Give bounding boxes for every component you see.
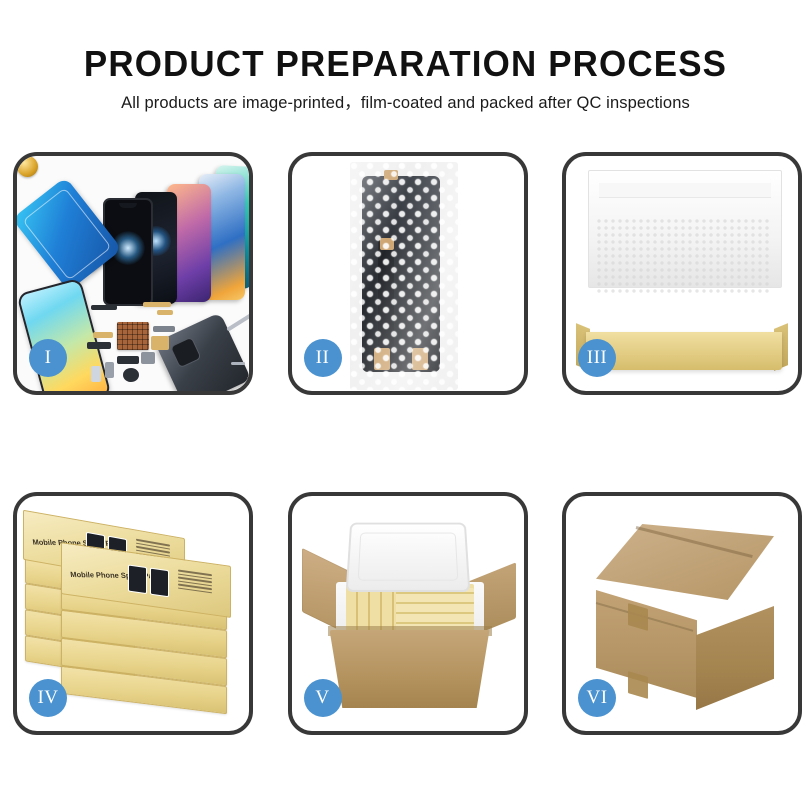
small-part-a — [91, 305, 117, 310]
process-step-3: III Item placed in gold box with foam an… — [562, 152, 802, 395]
box-screens-2 — [128, 564, 169, 597]
carton-top-face — [596, 524, 774, 600]
box-screen-img — [128, 564, 147, 594]
small-part-b — [87, 342, 111, 349]
carton-body — [330, 630, 490, 708]
camera-module — [123, 368, 139, 382]
box-spec-lines-2 — [178, 569, 212, 593]
page-title: PRODUCT PREPARATION PROCESS — [12, 44, 799, 84]
step-6-caption: Sealed outer shipping carton — [566, 496, 567, 497]
plastic-sheen — [350, 162, 458, 390]
step-2-caption: Single screen sealed in bubble wrap — [292, 156, 293, 157]
step-badge-2: II — [304, 339, 342, 377]
tweezers-tool — [226, 312, 249, 331]
small-part-g — [141, 352, 155, 364]
small-part-f — [91, 366, 101, 382]
step-badge-3: III — [578, 339, 616, 377]
page-subtitle: All products are image-printed，film-coat… — [0, 93, 811, 113]
small-part-d — [117, 356, 139, 364]
step-badge-1: I — [29, 339, 67, 377]
process-step-2: II Single screen sealed in bubble wrap — [288, 152, 528, 395]
flex-cable-c — [93, 332, 113, 338]
speaker-part — [17, 156, 38, 177]
small-part-e — [105, 362, 114, 378]
step-badge-6: VI — [578, 679, 616, 717]
process-step-grid: I Mobile phone screens, adhesive films a… — [13, 152, 802, 735]
foam-sheet — [596, 218, 772, 296]
process-step-4: Mobile Phone Spare Parts — [13, 492, 253, 735]
lid-flap — [599, 183, 771, 198]
step-badge-4: IV — [29, 679, 67, 717]
process-step-5: V Boxes loaded into foam-lined carton — [288, 492, 528, 735]
carton-right-face — [696, 606, 774, 710]
product-preparation-page: PRODUCT PREPARATION PROCESS All products… — [0, 0, 811, 811]
flex-cable-d — [151, 336, 169, 350]
chip-grid-part — [117, 322, 149, 350]
step-3-caption: Item placed in gold box with foam and bu… — [566, 156, 567, 157]
gold-box-front — [586, 332, 782, 370]
flex-cable-b — [157, 310, 173, 315]
carton-tape-lower — [628, 671, 648, 699]
flex-cable-a — [143, 302, 171, 307]
foam-lid — [345, 523, 470, 592]
process-step-1: I Mobile phone screens, adhesive films a… — [13, 152, 253, 395]
box-screen-img — [150, 568, 169, 598]
bubble-wrap-layer — [600, 296, 768, 334]
process-step-6: VI Sealed outer shipping carton — [562, 492, 802, 735]
screwdriver-tool — [231, 362, 245, 365]
step-badge-5: V — [304, 679, 342, 717]
bubble-wrap-package — [350, 162, 458, 390]
step-5-caption: Boxes loaded into foam-lined carton — [292, 496, 293, 497]
page-header: PRODUCT PREPARATION PROCESS All products… — [0, 0, 811, 113]
small-part-c — [153, 326, 175, 332]
